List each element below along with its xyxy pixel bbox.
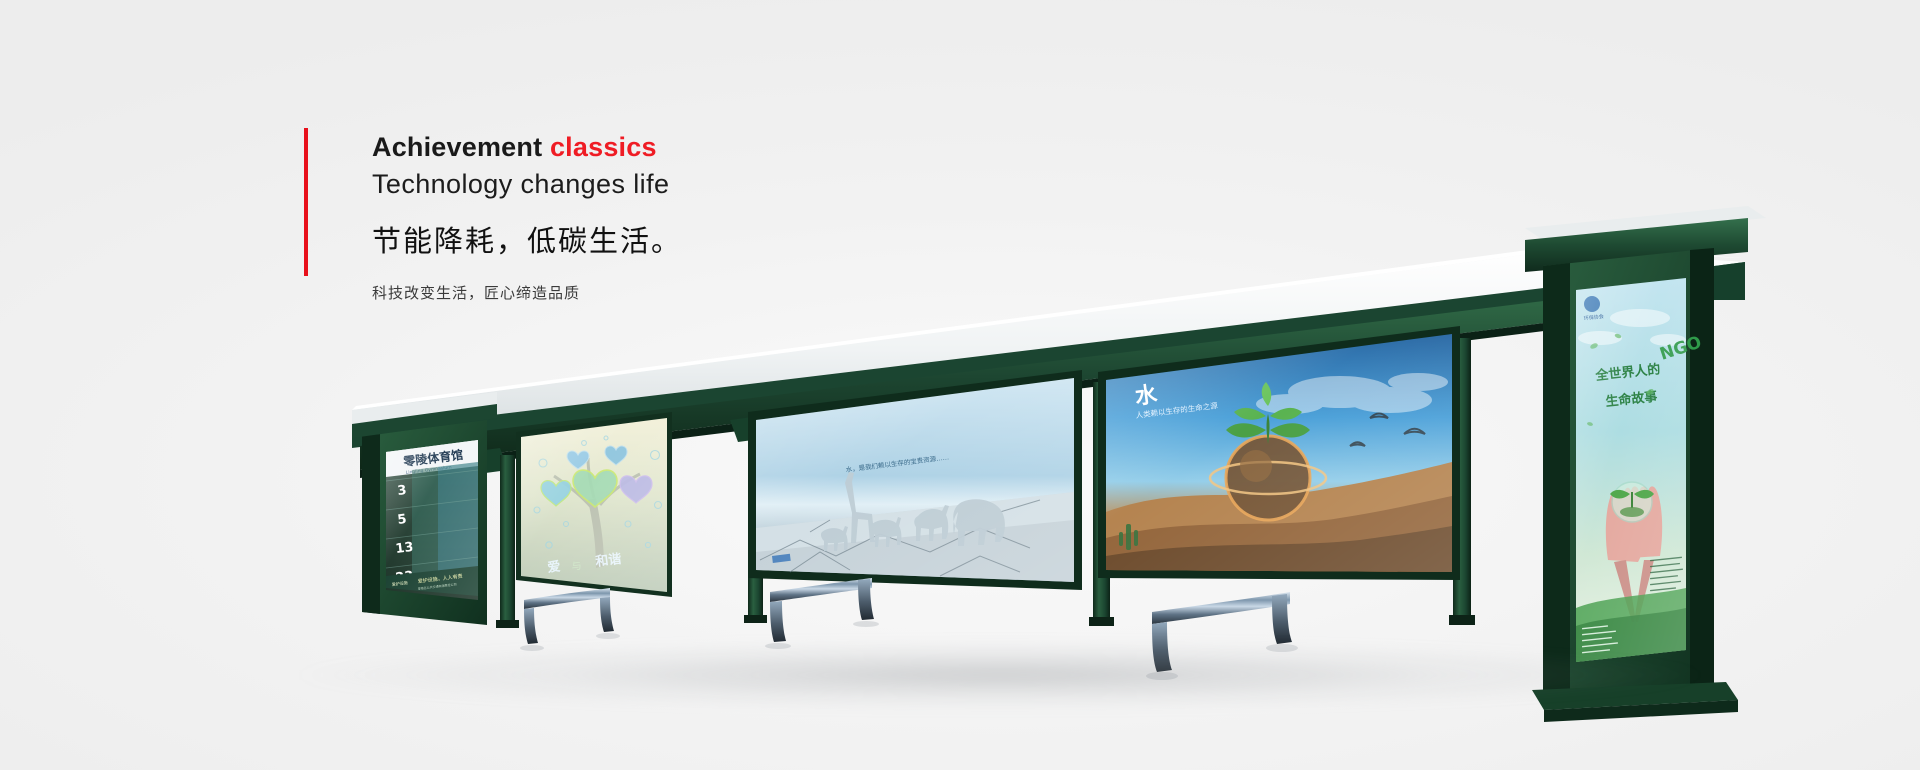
bench-2 [765, 578, 879, 649]
bus-shelter-illustration: 零陵体育馆 Lingling Gymnasium 3 5 13 23 [0, 0, 1920, 770]
headline-english-secondary: Technology changes life [372, 167, 1012, 202]
headline-english-accent: classics [550, 132, 657, 162]
headline-chinese-primary: 节能降耗，低碳生活。 [372, 218, 1012, 260]
headline-block: Achievement classics Technology changes … [372, 132, 1012, 303]
headline-chinese-subtitle: 科技改变生活，匠心缔造品质 [372, 282, 1012, 303]
headline-english-primary: Achievement classics [372, 132, 1012, 163]
bench-1 [520, 588, 620, 651]
bench-3 [1146, 592, 1298, 680]
panel-lightbox-1: 爱 与 和谐 [516, 412, 672, 597]
accent-bar-icon [304, 128, 308, 276]
banner-stage: 零陵体育馆 Lingling Gymnasium 3 5 13 23 [0, 0, 1920, 770]
headline-english-plain: Achievement [372, 132, 550, 162]
panel-route-info: 零陵体育馆 Lingling Gymnasium 3 5 13 23 [352, 392, 497, 625]
